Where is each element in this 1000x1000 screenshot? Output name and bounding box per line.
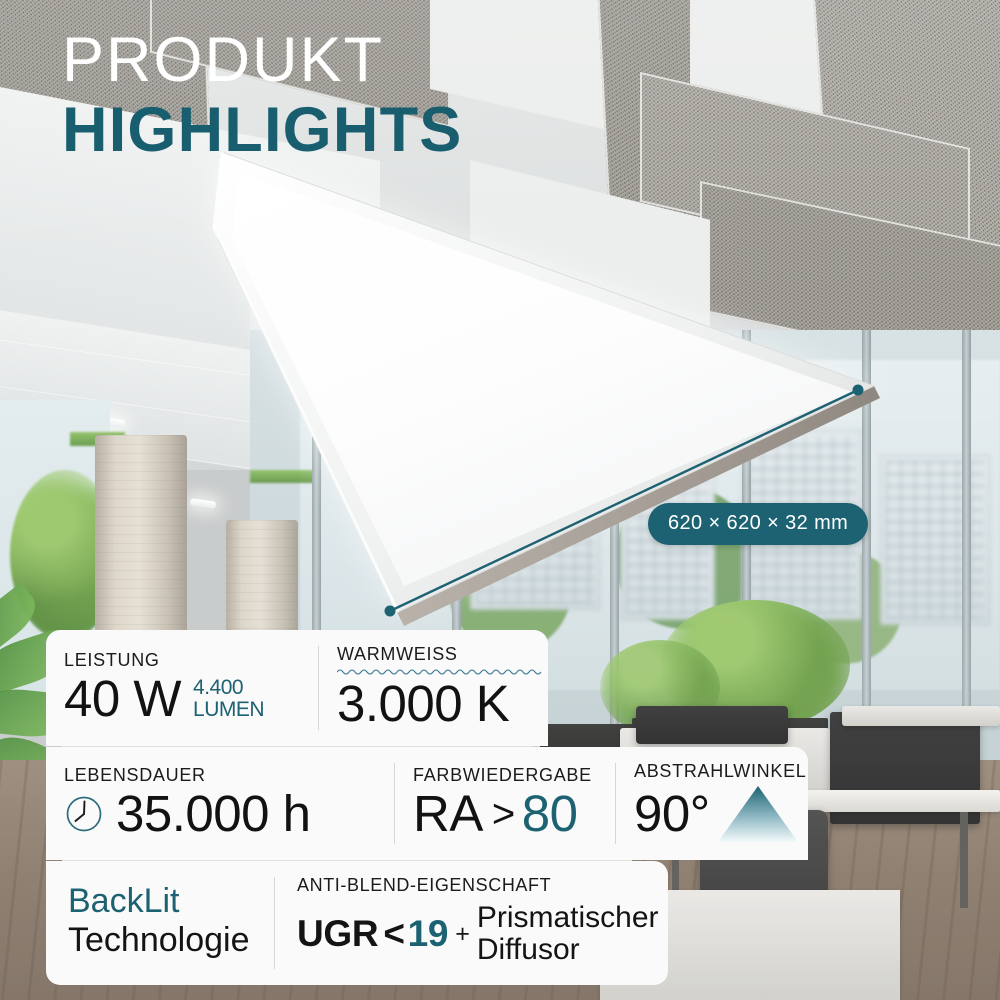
ra-prefix: RA: [413, 788, 483, 840]
exterior-building: [620, 470, 715, 620]
headline-line-1: PRODUKT: [62, 30, 463, 92]
spec-cell-technologie: BackLit Technologie: [46, 861, 274, 985]
window-green-band: [250, 470, 320, 483]
desk-privacy-panel: [842, 706, 1000, 726]
ugr-row: UGR<19 + Prismatischer Diffusor: [297, 902, 646, 967]
technology-name: BackLit: [68, 882, 252, 921]
ugr-number: 19: [408, 913, 449, 954]
spec-cell-antiblend: ANTI-BLEND-EIGENSCHAFT UGR<19 + Prismati…: [275, 861, 668, 985]
ugr-value: UGR<19: [297, 913, 448, 955]
spec-value: 3.000 K: [337, 678, 530, 730]
lumen-unit: LUMEN: [193, 699, 264, 720]
triangle-beam-icon: [716, 784, 800, 844]
ceiling-downlight: [190, 498, 217, 509]
spec-value: 90°: [634, 788, 710, 840]
spec-value: 35.000 h: [116, 788, 311, 840]
diffusor-line-1: Prismatischer: [477, 902, 659, 934]
spec-row-2: LEBENSDAUER 35.000 h FARBWIEDERGABE RA >…: [46, 747, 808, 860]
lumen-sub: 4.400 LUMEN: [193, 677, 264, 720]
diffusor-text: Prismatischer Diffusor: [477, 902, 659, 967]
spec-row-1: LEISTUNG 40 W 4.400 LUMEN WARMWEISS 3.00…: [46, 630, 548, 746]
spec-value-wrap: 90°: [634, 784, 790, 844]
diffusor-line-2: Diffusor: [477, 934, 659, 966]
spec-label: LEISTUNG: [64, 650, 300, 671]
spec-cell-farbwiedergabe: FARBWIEDERGABE RA > 80: [395, 747, 615, 860]
ugr-operator: <: [383, 913, 404, 954]
dimension-badge: 620 × 620 × 32 mm: [648, 503, 868, 545]
product-highlight-image: PRODUKT HIGHLIGHTS 620 × 620 × 32 mm LEI…: [0, 0, 1000, 1000]
spec-value-wrap: RA > 80: [413, 788, 597, 840]
clock-icon: [64, 794, 104, 834]
headline-line-2: HIGHLIGHTS: [62, 100, 463, 162]
plus-sign: +: [455, 920, 470, 949]
spec-card: LEISTUNG 40 W 4.400 LUMEN WARMWEISS 3.00…: [46, 630, 808, 985]
spec-label: ABSTRAHLWINKEL: [634, 761, 790, 782]
ugr-prefix: UGR: [297, 913, 378, 954]
technology-word: Technologie: [68, 921, 252, 960]
spec-cell-leistung: LEISTUNG 40 W 4.400 LUMEN: [46, 630, 318, 746]
desk-leg: [960, 812, 968, 908]
ra-number: 80: [522, 788, 578, 840]
spec-label: FARBWIEDERGABE: [413, 765, 597, 786]
spec-label: ANTI-BLEND-EIGENSCHAFT: [297, 875, 646, 896]
spec-row-3: BackLit Technologie ANTI-BLEND-EIGENSCHA…: [46, 861, 668, 985]
spec-cell-warmweiss: WARMWEISS 3.000 K: [319, 630, 548, 746]
lumen-number: 4.400: [193, 677, 264, 698]
spec-label: LEBENSDAUER: [64, 765, 376, 786]
exterior-building: [470, 440, 600, 610]
spec-cell-abstrahlwinkel: ABSTRAHLWINKEL 90°: [616, 747, 808, 860]
exterior-building: [880, 455, 990, 625]
headline: PRODUKT HIGHLIGHTS: [62, 30, 463, 161]
spec-value-wrap: 35.000 h: [64, 788, 376, 840]
ra-operator: >: [492, 794, 515, 835]
spec-label: WARMWEISS: [337, 644, 530, 665]
spec-cell-lebensdauer: LEBENSDAUER 35.000 h: [46, 747, 394, 860]
spec-value-wrap: 40 W 4.400 LUMEN: [64, 673, 300, 725]
spec-value: 40 W: [64, 673, 181, 725]
